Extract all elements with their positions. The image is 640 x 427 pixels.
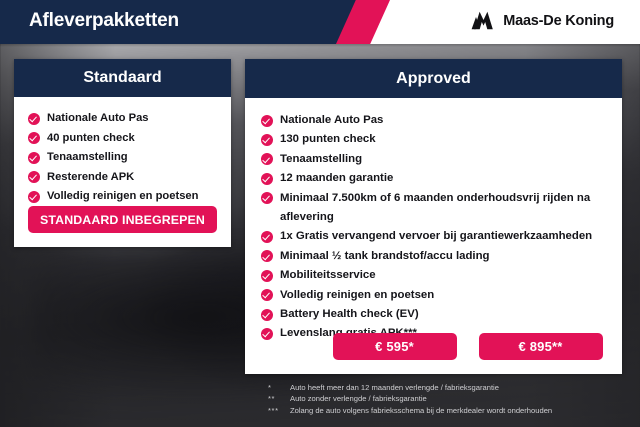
check-circle-icon	[28, 132, 40, 144]
feature-label: Tenaamstelling	[47, 148, 128, 168]
feature-label: Mobiliteitsservice	[280, 266, 376, 285]
card-heading-approved: Approved	[245, 59, 622, 98]
list-item: Nationale Auto Pas	[28, 109, 219, 129]
feature-label: Volledig reinigen en poetsen	[47, 187, 198, 207]
promo-graphic: Afleverpakketten Maas-De Koning Standaar…	[0, 0, 640, 427]
feature-label: Nationale Auto Pas	[47, 109, 149, 129]
list-item: Nationale Auto Pas	[261, 111, 610, 130]
maas-de-koning-logo-icon	[471, 11, 496, 30]
standaard-cta-row: STANDAARD INBEGREPEN	[14, 206, 231, 233]
feature-list-standaard: Nationale Auto Pas 40 punten check Tenaa…	[28, 109, 219, 207]
check-circle-icon	[28, 191, 40, 203]
check-circle-icon	[261, 134, 273, 146]
feature-label: 12 maanden garantie	[280, 169, 393, 188]
page-title: Afleverpakketten	[29, 10, 179, 32]
check-circle-icon	[261, 115, 273, 127]
check-circle-icon	[261, 173, 273, 185]
list-item: Resterende APK	[28, 168, 219, 188]
card-body-approved: Nationale Auto Pas 130 punten check Tena…	[245, 98, 622, 344]
feature-label: 40 punten check	[47, 129, 135, 149]
check-circle-icon	[261, 153, 273, 165]
brand-lockup: Maas-De Koning	[471, 11, 614, 30]
feature-list-approved: Nationale Auto Pas 130 punten check Tena…	[261, 111, 610, 344]
package-card-approved: Approved Nationale Auto Pas 130 punten c…	[245, 59, 622, 374]
price-button-row: € 595* € 895**	[245, 333, 622, 360]
footnote-text: Auto heeft meer dan 12 maanden verlengde…	[290, 382, 499, 393]
check-circle-icon	[261, 270, 273, 282]
list-item: Minimaal 7.500km of 6 maanden onderhouds…	[261, 189, 610, 228]
feature-label: Minimaal ½ tank brandstof/accu lading	[280, 247, 490, 266]
footnote-text: Auto zonder verlengde / fabrieksgarantie	[290, 393, 427, 404]
list-item: 12 maanden garantie	[261, 169, 610, 188]
footnote-text: Zolang de auto volgens fabrieksschema bi…	[290, 405, 552, 416]
feature-label: 130 punten check	[280, 130, 376, 149]
footnotes: * Auto heeft meer dan 12 maanden verleng…	[268, 382, 552, 416]
feature-label: Battery Health check (EV)	[280, 305, 419, 324]
price-button-895[interactable]: € 895**	[479, 333, 603, 360]
check-circle-icon	[28, 113, 40, 125]
feature-label: Volledig reinigen en poetsen	[280, 286, 434, 305]
feature-label: Tenaamstelling	[280, 150, 362, 169]
price-button-595[interactable]: € 595*	[333, 333, 457, 360]
list-item: 40 punten check	[28, 129, 219, 149]
check-circle-icon	[261, 192, 273, 204]
list-item: Tenaamstelling	[28, 148, 219, 168]
check-circle-icon	[261, 250, 273, 262]
list-item: Minimaal ½ tank brandstof/accu lading	[261, 247, 610, 266]
feature-label: Resterende APK	[47, 168, 134, 188]
check-circle-icon	[28, 171, 40, 183]
list-item: Volledig reinigen en poetsen	[261, 286, 610, 305]
feature-label: Minimaal 7.500km of 6 maanden onderhouds…	[280, 189, 610, 228]
footnote-row: *** Zolang de auto volgens fabrieksschem…	[268, 405, 552, 416]
card-heading-standaard: Standaard	[14, 59, 231, 97]
feature-label: 1x Gratis vervangend vervoer bij garanti…	[280, 227, 592, 246]
footnote-marker: *	[268, 382, 290, 393]
footnote-row: ** Auto zonder verlengde / fabrieksgaran…	[268, 393, 552, 404]
list-item: Volledig reinigen en poetsen	[28, 187, 219, 207]
check-circle-icon	[28, 152, 40, 164]
list-item: 1x Gratis vervangend vervoer bij garanti…	[261, 227, 610, 246]
footnote-marker: ***	[268, 405, 290, 416]
package-card-standaard: Standaard Nationale Auto Pas 40 punten c…	[14, 59, 231, 247]
check-circle-icon	[261, 309, 273, 321]
standaard-inbegrepen-button[interactable]: STANDAARD INBEGREPEN	[28, 206, 217, 233]
header-dropshadow	[0, 44, 640, 47]
feature-label: Nationale Auto Pas	[280, 111, 383, 130]
brand-name: Maas-De Koning	[503, 13, 614, 29]
check-circle-icon	[261, 231, 273, 243]
footnote-marker: **	[268, 393, 290, 404]
list-item: 130 punten check	[261, 130, 610, 149]
list-item: Battery Health check (EV)	[261, 305, 610, 324]
header-banner: Afleverpakketten Maas-De Koning	[0, 0, 640, 44]
footnote-row: * Auto heeft meer dan 12 maanden verleng…	[268, 382, 552, 393]
check-circle-icon	[261, 289, 273, 301]
list-item: Tenaamstelling	[261, 150, 610, 169]
card-body-standaard: Nationale Auto Pas 40 punten check Tenaa…	[14, 97, 231, 207]
list-item: Mobiliteitsservice	[261, 266, 610, 285]
